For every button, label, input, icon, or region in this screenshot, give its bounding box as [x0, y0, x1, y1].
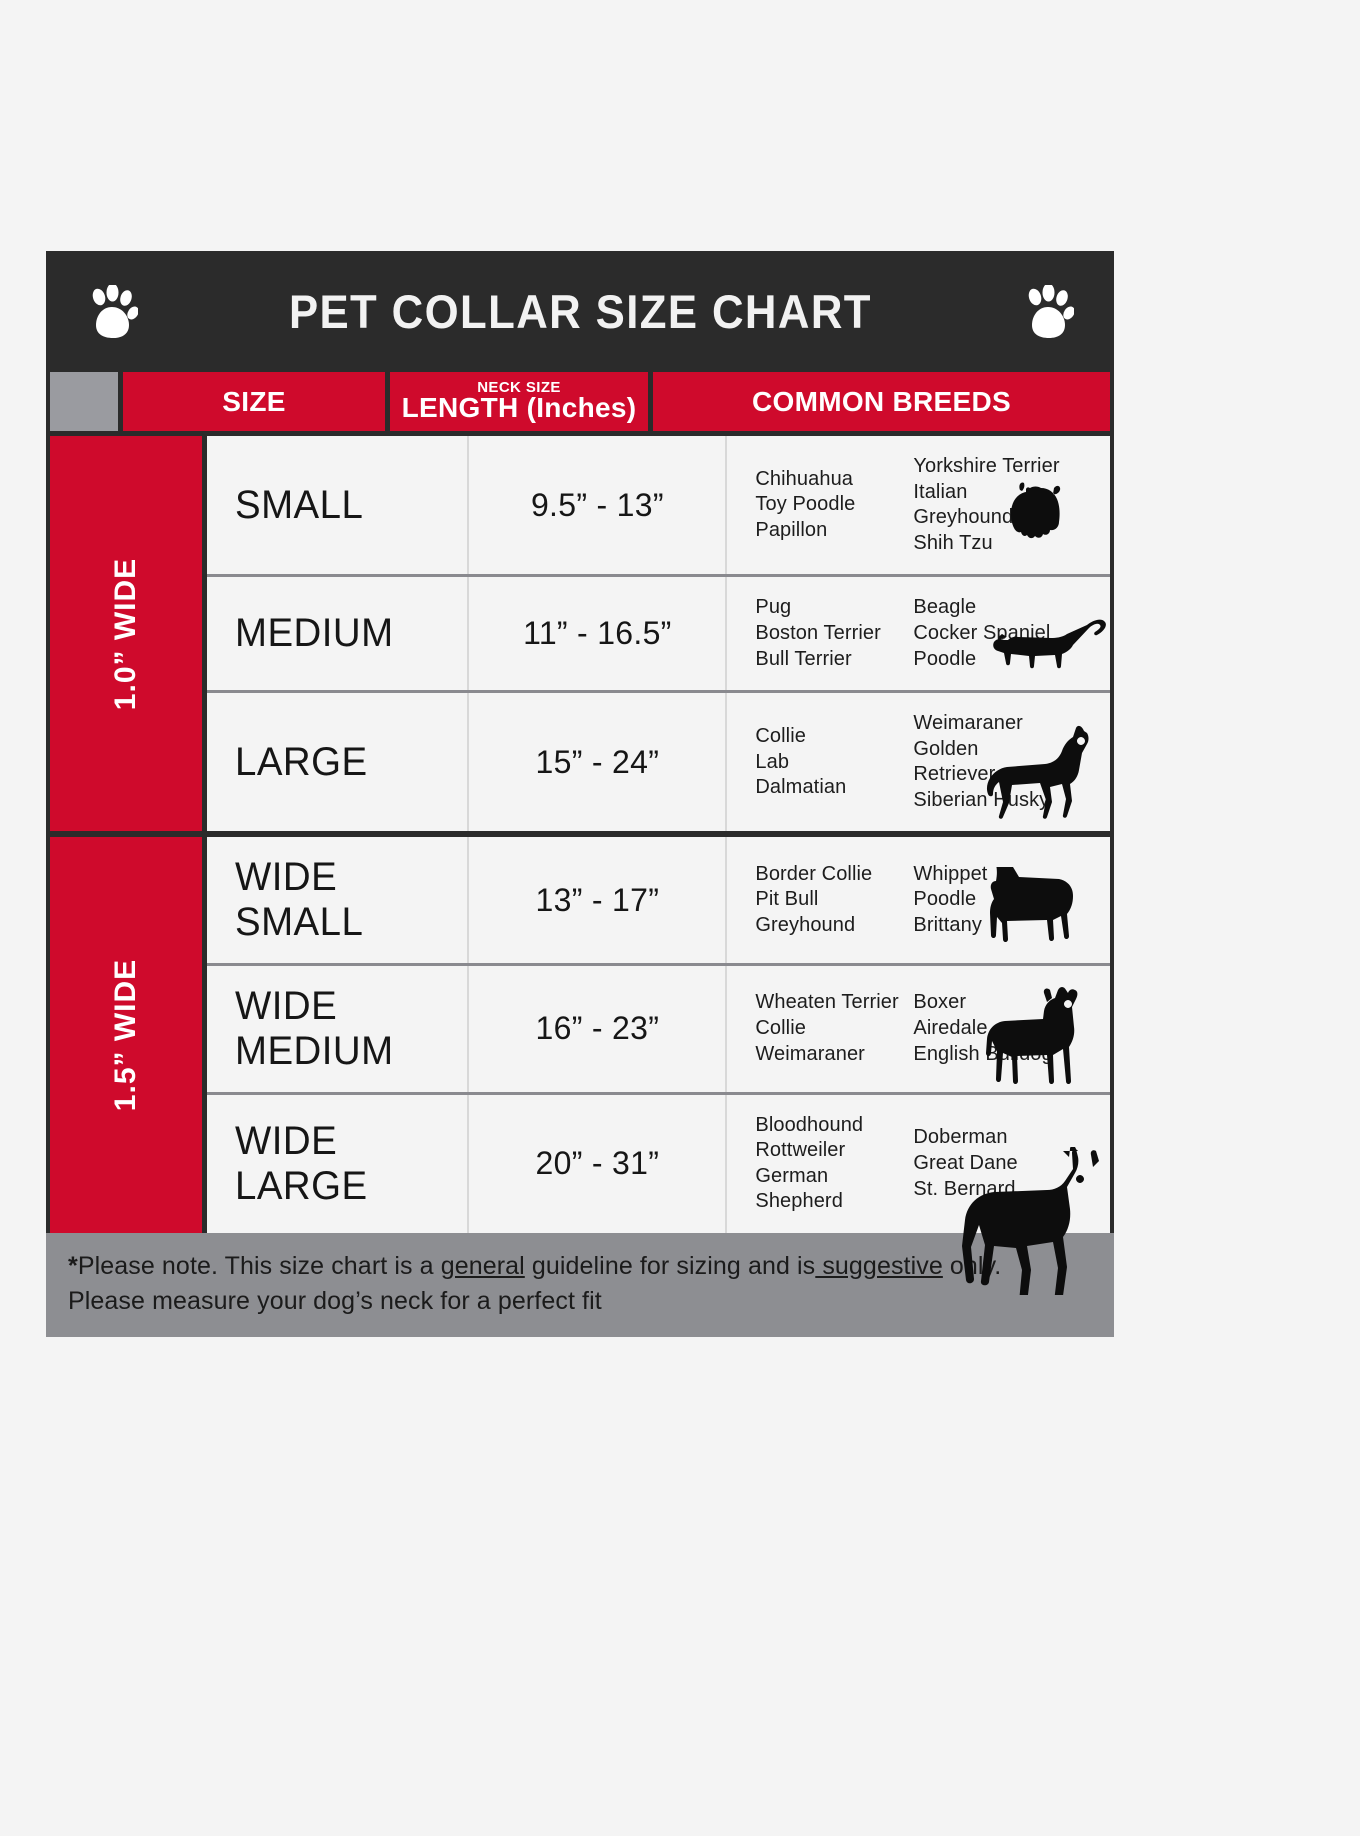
breed-column-1: Collie Lab Dalmatian — [755, 724, 913, 801]
breed-name: Beagle — [913, 595, 1063, 621]
breed-column-2: Boxer Airedale English Bulldog — [913, 990, 1063, 1067]
breed-name: Weimaraner — [755, 1042, 913, 1068]
footnote-part-1: Please note. This size chart is a — [78, 1252, 441, 1280]
breed-name: Siberian Husky — [913, 788, 1063, 814]
breed-column-1: Chihuahua Toy Poodle Papillon — [755, 467, 913, 544]
size-label-line: LARGE — [235, 1164, 458, 1209]
breed-name: Great Dane — [913, 1151, 1063, 1177]
cell-common-breeds: Chihuahua Toy Poodle Papillon Yorkshire … — [727, 436, 1110, 574]
breed-name: Border Collie — [755, 862, 913, 888]
breed-column-1: Pug Boston Terrier Bull Terrier — [755, 595, 913, 672]
breed-name: Cocker Spaniel — [913, 621, 1063, 647]
size-label-line: SMALL — [235, 483, 458, 528]
cell-size: MEDIUM — [207, 577, 469, 690]
breed-column-1: Bloodhound Rottweiler German Shepherd — [755, 1113, 913, 1215]
breed-name: Bull Terrier — [755, 647, 913, 673]
breed-name: German Shepherd — [755, 1164, 913, 1215]
footnote-emphasis-suggestive: suggestive — [815, 1252, 943, 1280]
cell-common-breeds: Border Collie Pit Bull Greyhound Whippet… — [727, 837, 1110, 963]
breed-column-1: Border Collie Pit Bull Greyhound — [755, 862, 913, 939]
cell-length: 20” - 31” — [469, 1095, 727, 1233]
breed-name: Brittany — [913, 913, 1063, 939]
cell-length: 15” - 24” — [469, 693, 727, 831]
size-label-line: WIDE — [235, 984, 458, 1029]
size-table: SIZE NECK SIZE LENGTH (Inches) COMMON BR… — [46, 372, 1114, 1233]
breed-name: Airedale — [913, 1016, 1063, 1042]
footnote-part-2: guideline for sizing and is — [525, 1252, 815, 1280]
breed-name: Lab — [755, 750, 913, 776]
footnote-part-3: only. — [943, 1252, 1002, 1280]
breed-name: Wheaten Terrier — [755, 990, 913, 1016]
table-body: 1.0” WIDE SMALL 9.5” - 13” Chihuahua Toy… — [50, 436, 1110, 1233]
group-label-text: 1.0” WIDE — [109, 558, 143, 710]
cell-common-breeds: Bloodhound Rottweiler German Shepherd Do… — [727, 1095, 1110, 1233]
table-row: WIDE MEDIUM 16” - 23” Wheaten Terrier Co… — [207, 966, 1110, 1095]
breed-name: Greyhound — [755, 913, 913, 939]
breed-name: Collie — [755, 724, 913, 750]
cell-common-breeds: Collie Lab Dalmatian Weimaraner Golden R… — [727, 693, 1110, 831]
size-label-line: MEDIUM — [235, 1029, 458, 1074]
footnote-emphasis-general: general — [441, 1252, 525, 1280]
cell-common-breeds: Pug Boston Terrier Bull Terrier Beagle C… — [727, 577, 1110, 690]
table-row: LARGE 15” - 24” Collie Lab Dalmatian Wei… — [207, 693, 1110, 831]
cell-length: 13” - 17” — [469, 837, 727, 963]
cell-size: WIDE SMALL — [207, 837, 469, 963]
cell-size: WIDE LARGE — [207, 1095, 469, 1233]
width-group-1-5: 1.5” WIDE WIDE SMALL 13” - 17” Border Co… — [50, 837, 1110, 1233]
size-label-line: WIDE — [235, 855, 458, 900]
breed-column-2: Beagle Cocker Spaniel Poodle — [913, 595, 1063, 672]
size-label-line: MEDIUM — [235, 611, 458, 656]
breed-name: Poodle — [913, 887, 1063, 913]
cell-size: SMALL — [207, 436, 469, 574]
group-label-text: 1.5” WIDE — [109, 959, 143, 1111]
breed-name: Boxer — [913, 990, 1063, 1016]
breed-name: Boston Terrier — [755, 621, 913, 647]
breed-name: St. Bernard — [913, 1177, 1063, 1203]
breed-name: English Bulldog — [913, 1042, 1063, 1068]
pet-collar-size-chart-card: PET COLLAR SIZE CHART SIZE NECK SIZE LEN… — [46, 251, 1114, 1337]
paw-print-icon — [1022, 285, 1074, 341]
column-header-size: SIZE — [123, 372, 385, 431]
paw-print-icon — [86, 285, 138, 341]
group-label-1-0-wide: 1.0” WIDE — [50, 436, 202, 831]
header-corner-spacer — [50, 372, 118, 431]
breed-name: Collie — [755, 1016, 913, 1042]
asterisk-marker: * — [68, 1252, 78, 1280]
breed-name: Doberman — [913, 1125, 1063, 1151]
breed-name: Bloodhound — [755, 1113, 913, 1139]
table-header-row: SIZE NECK SIZE LENGTH (Inches) COMMON BR… — [50, 372, 1110, 431]
size-label-line: WIDE — [235, 1119, 458, 1164]
cell-size: LARGE — [207, 693, 469, 831]
breed-column-1: Wheaten Terrier Collie Weimaraner — [755, 990, 913, 1067]
breed-name: Weimaraner — [913, 711, 1063, 737]
table-row: WIDE LARGE 20” - 31” Bloodhound Rottweil… — [207, 1095, 1110, 1233]
table-row: MEDIUM 11” - 16.5” Pug Boston Terrier Bu… — [207, 577, 1110, 693]
column-header-length: NECK SIZE LENGTH (Inches) — [390, 372, 648, 431]
breed-name: Italian Greyhound — [913, 480, 1063, 531]
breed-name: Papillon — [755, 518, 913, 544]
breed-name: Yorkshire Terrier — [913, 454, 1063, 480]
cell-size: WIDE MEDIUM — [207, 966, 469, 1092]
breed-name: Poodle — [913, 647, 1063, 673]
footnote-line-2: Please measure your dog’s neck for a per… — [68, 1287, 602, 1315]
cell-length: 11” - 16.5” — [469, 577, 727, 690]
breed-name: Rottweiler — [755, 1138, 913, 1164]
width-group-1-0: 1.0” WIDE SMALL 9.5” - 13” Chihuahua Toy… — [50, 436, 1110, 831]
breed-column-2: Yorkshire Terrier Italian Greyhound Shih… — [913, 454, 1063, 556]
chart-title-bar: PET COLLAR SIZE CHART — [46, 251, 1114, 372]
breed-name: Toy Poodle — [755, 492, 913, 518]
table-row: WIDE SMALL 13” - 17” Border Collie Pit B… — [207, 837, 1110, 966]
length-inches-label: LENGTH (Inches) — [402, 393, 637, 422]
breed-column-2: Weimaraner Golden Retriever Siberian Hus… — [913, 711, 1063, 813]
size-label-line: SMALL — [235, 900, 458, 945]
breed-name: Chihuahua — [755, 467, 913, 493]
breed-name: Pit Bull — [755, 887, 913, 913]
breed-name: Shih Tzu — [913, 531, 1063, 557]
breed-name: Golden Retriever — [913, 737, 1063, 788]
page-title: PET COLLAR SIZE CHART — [289, 284, 872, 339]
table-row: SMALL 9.5” - 13” Chihuahua Toy Poodle Pa… — [207, 436, 1110, 577]
breed-name: Dalmatian — [755, 775, 913, 801]
footnote-disclaimer: *Please note. This size chart is a gener… — [46, 1233, 1114, 1337]
size-label-line: LARGE — [235, 740, 458, 785]
breed-name: Whippet — [913, 862, 1063, 888]
cell-length: 16” - 23” — [469, 966, 727, 1092]
breed-name: Pug — [755, 595, 913, 621]
breed-column-2: Doberman Great Dane St. Bernard — [913, 1125, 1063, 1202]
breed-column-2: Whippet Poodle Brittany — [913, 862, 1063, 939]
column-header-common-breeds: COMMON BREEDS — [653, 372, 1110, 431]
group-label-1-5-wide: 1.5” WIDE — [50, 837, 202, 1233]
cell-length: 9.5” - 13” — [469, 436, 727, 574]
cell-common-breeds: Wheaten Terrier Collie Weimaraner Boxer … — [727, 966, 1110, 1092]
